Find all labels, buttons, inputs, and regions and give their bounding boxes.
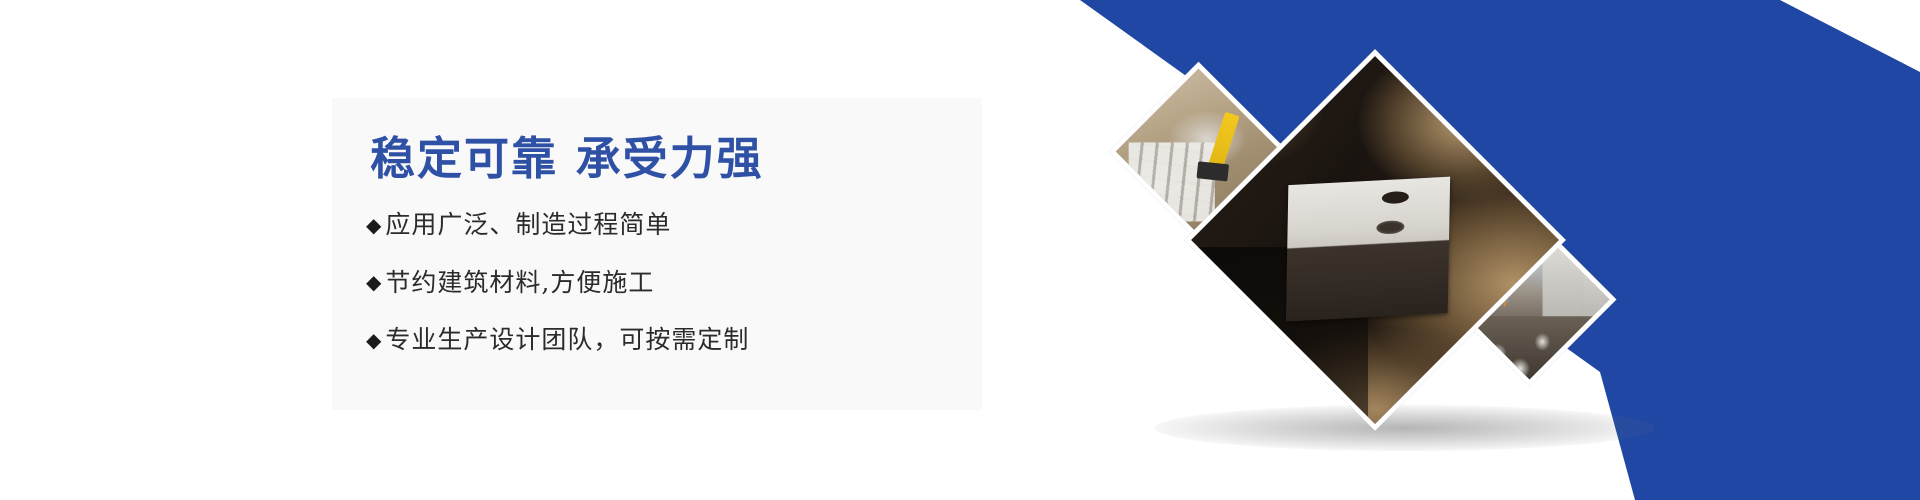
concrete-septic-tank [1286, 177, 1450, 322]
building-2 [1584, 242, 1610, 319]
diamond-photo-collage [0, 0, 1920, 500]
collage-drop-shadow [1155, 405, 1655, 451]
concrete-blocks [1129, 142, 1215, 221]
product-feature-banner: 稳定可靠 承受力强 ◆ 应用广泛、制造过程简单 ◆ 节约建筑材料,方便施工 ◆ … [0, 0, 1920, 500]
